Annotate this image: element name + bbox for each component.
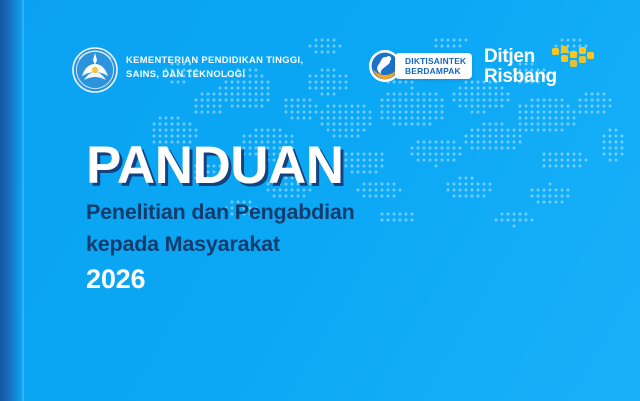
subtitle-line1: Penelitian dan Pengabdian (86, 198, 355, 226)
title-block: PANDUAN Penelitian dan Pengabdian kepada… (86, 138, 355, 295)
subtitle-line2: kepada Masyarakat (86, 230, 355, 258)
ministry-name: KEMENTERIAN PENDIDIKAN TINGGI, SAINS, DA… (126, 53, 303, 80)
ministry-name-line2: SAINS, DAN TEKNOLOGI (126, 67, 303, 81)
diktisaintek-badge-plate: DIKTISAINTEK BERDAMPAK (395, 53, 472, 79)
tut-wuri-handayani-emblem-icon (72, 47, 118, 93)
page-title: PANDUAN (86, 138, 355, 194)
badge-line1: DIKTISAINTEK (405, 56, 466, 66)
ditjen-line2: Risbang (484, 67, 557, 87)
book-cover: KEMENTERIAN PENDIDIKAN TINGGI, SAINS, DA… (0, 0, 640, 401)
ministry-name-line1: KEMENTERIAN PENDIDIKAN TINGGI, (126, 53, 303, 67)
ditjen-line1: Ditjen (484, 47, 557, 67)
dot-arrow-icon (552, 46, 594, 72)
badge-line2: BERDAMPAK (405, 66, 466, 76)
diktisaintek-badge: DIKTISAINTEK BERDAMPAK (368, 49, 472, 83)
cover-header: KEMENTERIAN PENDIDIKAN TINGGI, SAINS, DA… (0, 45, 640, 97)
year-label: 2026 (86, 263, 355, 295)
ditjen-risbang-logo: Ditjen Risbang (484, 47, 557, 87)
